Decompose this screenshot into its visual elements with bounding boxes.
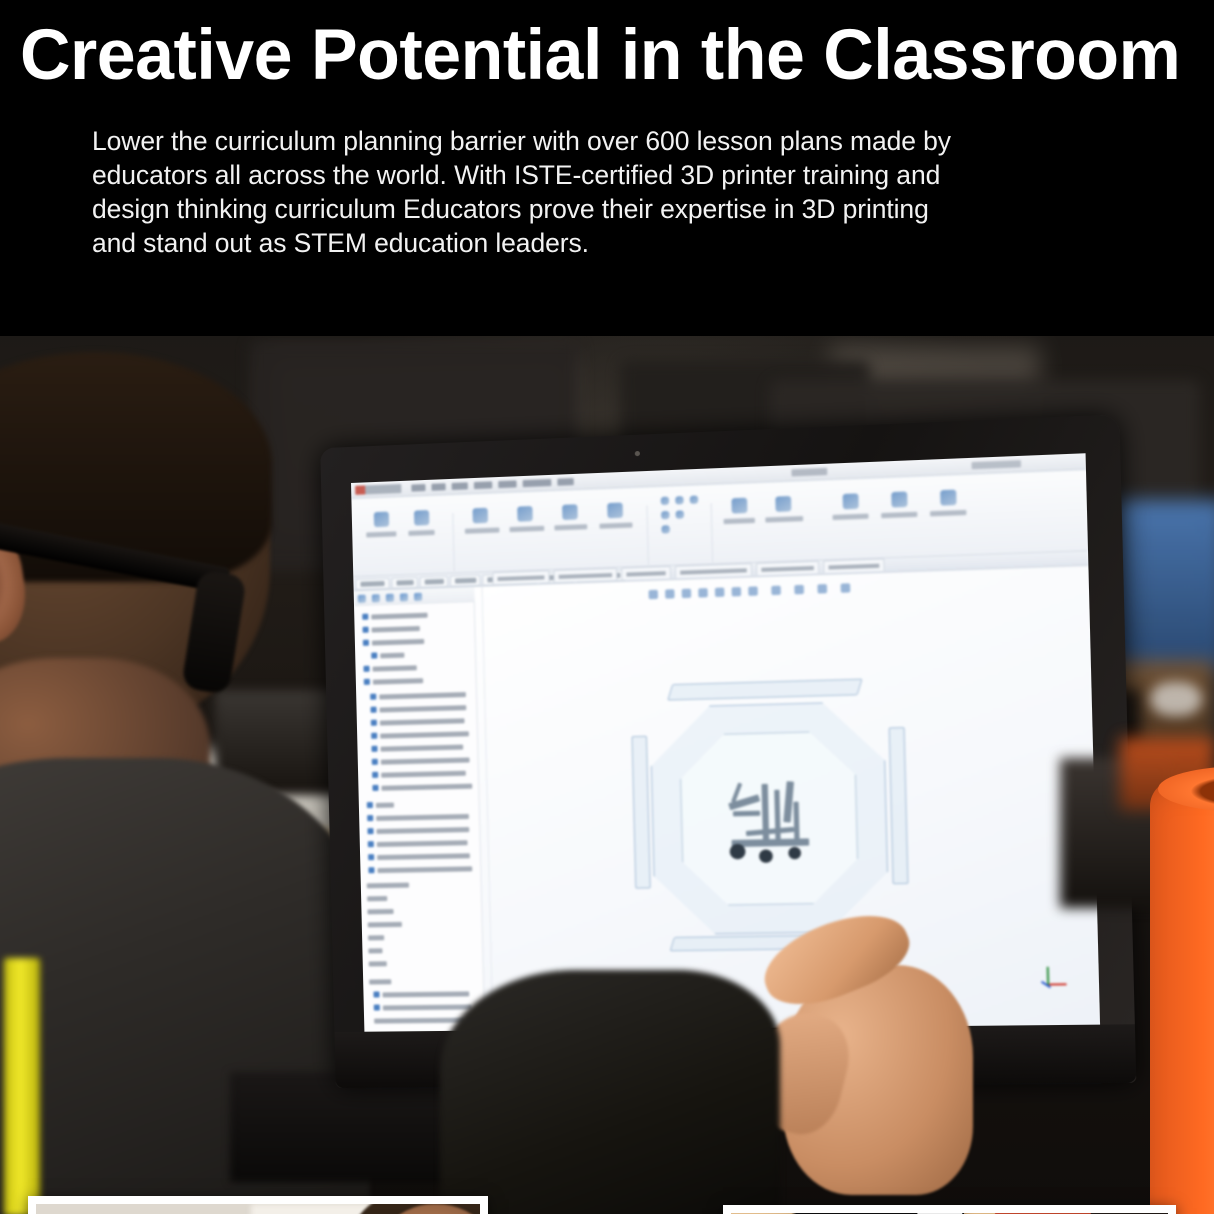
appearance-icon[interactable]	[771, 586, 781, 596]
tree-icon-appearance[interactable]	[414, 593, 422, 601]
scene-icon[interactable]	[794, 585, 804, 595]
tab-evaluate-label	[455, 578, 476, 584]
page-title: Creative Potential in the Classroom	[20, 14, 1182, 98]
ribbon-icon-16[interactable]	[891, 491, 907, 507]
doc-tab-6[interactable]	[823, 558, 885, 572]
tab-sketch-label	[397, 580, 414, 586]
ribbon-label-6	[599, 522, 632, 528]
origin-triad-y-axis	[1047, 967, 1050, 986]
ribbon-icon-11[interactable]	[676, 510, 684, 518]
orange-3d-printed-cylinder	[1150, 780, 1214, 1214]
ribbon-icon-1[interactable]	[374, 512, 389, 528]
inset-left-window-light	[251, 1204, 371, 1214]
ribbon-label-4	[510, 526, 545, 532]
menu-file[interactable]	[411, 484, 425, 492]
ribbon-label-7	[724, 518, 755, 524]
main-photo: DELL	[0, 330, 1214, 1214]
ribbon-icon-5[interactable]	[562, 504, 578, 520]
ribbon-icon-14[interactable]	[775, 496, 791, 512]
view-toolbar[interactable]	[648, 579, 889, 601]
ribbon-icon-8[interactable]	[661, 511, 669, 519]
menu-insert[interactable]	[474, 481, 492, 489]
view-settings-icon[interactable]	[841, 583, 851, 593]
ribbon-label-2	[408, 530, 434, 536]
ribbon-label-3	[465, 527, 500, 533]
ribbon-icon-12[interactable]	[690, 495, 699, 503]
view-orientation-icon[interactable]	[715, 588, 725, 598]
tab-markup-label	[425, 579, 444, 585]
ribbon-icon-4[interactable]	[517, 506, 533, 522]
header-band: Creative Potential in the Classroom Lowe…	[0, 0, 1214, 336]
model-left-rail	[631, 736, 650, 889]
section-view-icon[interactable]	[817, 584, 827, 594]
document-title	[791, 468, 827, 477]
subtitle-line-2: educators all across the world. With IST…	[92, 158, 1122, 192]
tree-icon-properties[interactable]	[372, 594, 380, 602]
feature-tree-toolbar[interactable]	[354, 587, 475, 606]
subtitle-paragraph: Lower the curriculum planning barrier wi…	[92, 124, 1122, 260]
doc-tab-1[interactable]	[492, 570, 549, 584]
subtitle-line-3: design thinking curriculum Educators pro…	[92, 192, 1122, 226]
hide-show-icon[interactable]	[748, 586, 758, 596]
tree-icon-model[interactable]	[358, 595, 366, 603]
ribbon-icon-9[interactable]	[661, 525, 669, 533]
ribbon-label-11	[930, 510, 966, 517]
tree-icon-display[interactable]	[400, 593, 408, 601]
doc-tab-5[interactable]	[756, 561, 819, 575]
menu-tools[interactable]	[498, 480, 516, 488]
ribbon-icon-10[interactable]	[675, 496, 683, 504]
subtitle-line-4: and stand out as STEM education leaders.	[92, 226, 1122, 260]
doc-tab-3[interactable]	[621, 566, 671, 580]
foreground-hoodie	[440, 970, 780, 1214]
feature-tree-panel[interactable]	[354, 587, 486, 1032]
pan-icon[interactable]	[698, 588, 708, 597]
ribbon-separator-1	[452, 513, 454, 571]
zoom-to-fit-icon[interactable]	[649, 590, 659, 599]
ribbon-icon-6[interactable]	[607, 502, 623, 518]
panel-divider	[481, 587, 493, 1031]
solidworks-logo-icon	[355, 484, 401, 495]
ribbon-label-1	[366, 531, 396, 537]
inset-photo-right: DESIGN THINKING ThinkPad	[723, 1205, 1176, 1214]
tab-features-label	[360, 581, 384, 587]
background-screen-glow-2	[1115, 500, 1214, 670]
rotate-view-icon[interactable]	[682, 589, 692, 598]
tree-icon-configuration[interactable]	[386, 594, 394, 602]
ribbon-icon-7[interactable]	[661, 497, 669, 505]
model-top-rail	[667, 679, 862, 701]
ribbon-icon-2[interactable]	[414, 510, 429, 526]
display-style-icon[interactable]	[732, 587, 742, 597]
ribbon-icon-13[interactable]	[731, 498, 747, 514]
yellow-object	[4, 958, 40, 1214]
model-mechanism	[726, 778, 829, 878]
inset-left-content	[36, 1204, 480, 1214]
menu-window[interactable]	[523, 479, 552, 487]
ribbon-icon-15[interactable]	[843, 493, 859, 509]
poster-root: Creative Potential in the Classroom Lowe…	[0, 0, 1214, 1214]
background-mouse	[1150, 682, 1202, 716]
ribbon-label-8	[765, 516, 803, 523]
doc-tab-2[interactable]	[553, 568, 617, 582]
menu-help[interactable]	[557, 478, 574, 486]
ribbon-icon-17[interactable]	[940, 490, 956, 506]
subtitle-line-1: Lower the curriculum planning barrier wi…	[92, 124, 1122, 158]
ribbon-label-9	[833, 514, 869, 520]
ribbon-label-10	[881, 512, 917, 519]
inset-photo-left	[28, 1196, 488, 1214]
ribbon-separator-2	[646, 506, 648, 565]
model-right-rail	[889, 727, 909, 884]
menu-view[interactable]	[452, 482, 468, 490]
ribbon-separator-3	[711, 503, 714, 562]
ribbon-icon-3[interactable]	[472, 508, 488, 524]
menu-edit[interactable]	[431, 483, 445, 491]
zoom-area-icon[interactable]	[665, 589, 675, 598]
ribbon-label-5	[554, 524, 587, 530]
search-box[interactable]	[972, 460, 1022, 469]
